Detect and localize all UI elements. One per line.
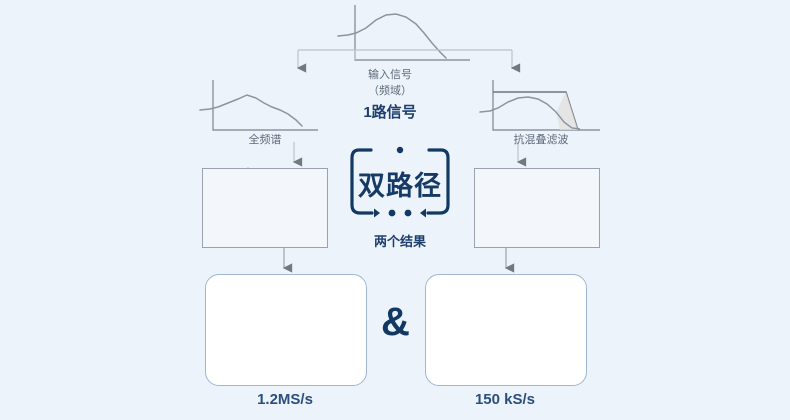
input-signal-label: 输入信号 [335,66,445,82]
two-results-label: 两个结果 [355,231,445,250]
slow-sample-rate-label: 150 kS/s [425,391,585,408]
diagram-canvas: 输入信号 （频域） 1路信号 全频谱 抗混叠滤波 双路径 两个结果 & 1.2M… [0,0,790,420]
full-spectrum-label: 全频谱 [215,131,315,147]
filtered-trace-panel [474,168,600,248]
slow-sample-card [425,274,587,386]
anti-alias-filter-chart [480,80,600,130]
fast-sample-card [205,274,367,386]
dual-path-badge-label: 双路径 [358,164,442,203]
ampersand-symbol: & [381,302,410,342]
fast-sample-rate-label: 1.2MS/s [205,391,365,408]
input-signal-chart [338,5,470,60]
diagram-graphics [0,0,790,420]
full-spectrum-chart [200,80,318,130]
anti-alias-filter-label: 抗混叠滤波 [486,131,596,147]
one-channel-label: 1路信号 [335,101,445,122]
input-signal-sublabel: （频域） [335,82,445,98]
wideband-trace-panel [202,168,328,248]
